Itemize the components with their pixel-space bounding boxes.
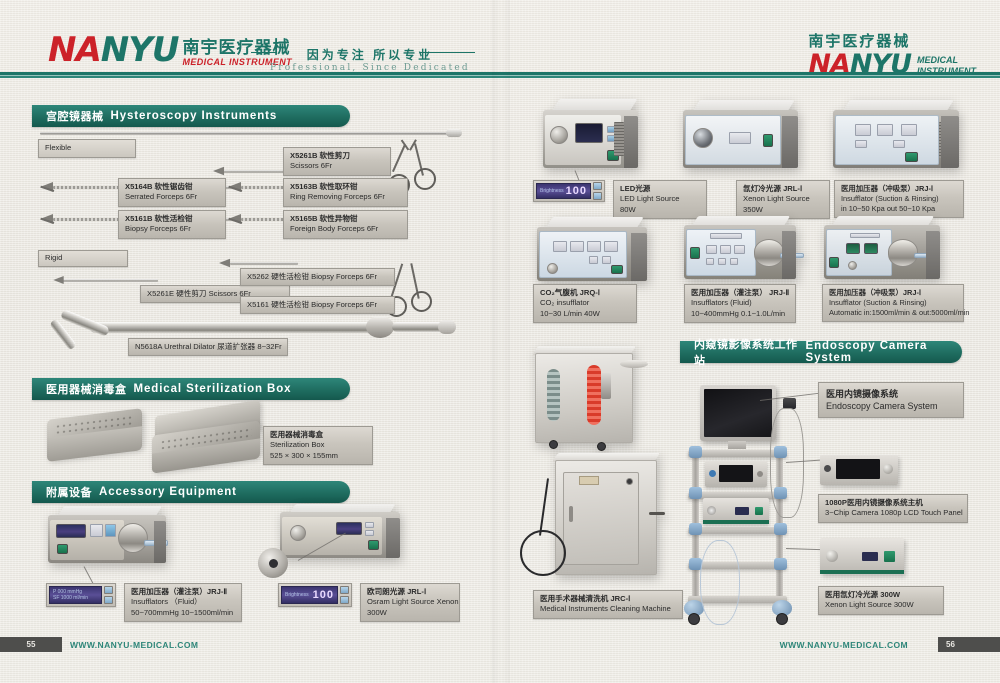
label-serrated-forceps: X5164B 软性锯齿钳 Serrated Forceps 6Fr [118,178,226,207]
label-camera-host: 1080P医用内镜摄像系统主机 3~Chip Camera 1080p LCD … [818,494,968,523]
section-camera-system: 内窥镜影像系统工作站 Endoscopy Camera System [680,341,962,363]
section-sterilization-en: Medical Sterilization Box [134,383,292,395]
display-led: Brightness 100 [533,180,605,202]
device-insufflator-fluid-2 [684,225,796,279]
label-flex-scissors: X5261B 软性剪刀 Scissors 6Fr [283,147,391,176]
cleaning-machine-bottom-art [555,460,657,575]
section-camera-cn: 内窥镜影像系统工作站 [694,336,799,368]
display-insufflator: P 000 mmHg SF 1000 ml/min [46,583,116,607]
header-dash-right [420,52,475,53]
label-xenon-light-source: 氙灯冷光源 JRL-Ⅰ Xenon Light Source 350W [736,180,830,219]
display-osram-label: Brightness [285,592,309,598]
label-urethral-dilator: N5618A Urethral Dilator 尿道扩张器 8~32Fr [128,338,288,356]
display-line-2: SF 1000 ml/min [53,595,88,601]
fiber-optic-cable-end-art [258,548,288,578]
display-led-label: Brightness [540,188,564,194]
device-insufflator-fluid [48,515,166,563]
logo-right-cn: 南宇医疗器械 [808,30,976,51]
label-rigid-biopsy-1: X5262 硬性活检钳 Biopsy Forceps 6Fr [240,268,395,286]
label-osram-light-source: 欧司朗光源 JRL-Ⅰ Osram Light Source Xenon 300… [360,583,460,622]
logo-left: NANYU 南宇医疗器械 MEDICAL INSTRUMENT [48,33,292,67]
section-accessory-cn: 附属设备 [46,484,92,500]
page-number-right: 56 [946,640,955,649]
label-insufflator-suction: 医用加压器（冲吸泵）JRJ-Ⅰ Insufflator (Suction & R… [834,180,964,218]
label-insufflator-fluid-2: 医用加压器（灌注泵） JRJ-Ⅱ Insufflators (Fluid) 10… [684,284,796,323]
label-insufflator-auto: 医用加压器（冲吸泵）JRJ-Ⅰ Insufflator (Suction & R… [822,284,964,322]
section-accessory-en: Accessory Equipment [99,486,237,498]
header-rule [0,72,1000,78]
camera-host-art [820,455,898,485]
device-insufflator-suction-rinsing [833,110,959,168]
display-osram: Brightness 100 [278,583,352,607]
label-sterilization-box: 医用器械消毒盒 Sterilization Box 525 × 300 × 15… [263,426,373,465]
logo-left-wordmark: NANYU [48,33,178,67]
label-co2-insufflator: CO₂气腹机 JRQ-Ⅰ CO₂ insufflator 10~30 L/min… [533,284,637,323]
label-foreign-body-forceps: X5165B 软性异物钳 Foreign Body Forceps 6Fr [283,210,408,239]
flexible-rod-tip [446,129,462,137]
display-led-value: 100 [566,185,587,197]
group-label-rigid: Rigid [38,250,128,267]
xenon-light-art [820,538,904,574]
section-hysteroscopy: 宫腔镜器械 Hysteroscopy Instruments [32,105,350,127]
device-insufflator-auto [824,225,940,279]
display-osram-buttons[interactable] [340,586,349,604]
catalog-page: NANYU 南宇医疗器械 MEDICAL INSTRUMENT 因为专注 所以专… [0,0,1000,683]
label-rigid-biopsy-2: X5161 硬性活检钳 Biopsy Forceps 6Fr [240,296,395,314]
device-led-light-source [543,110,638,168]
page-number-left-tab: 55 [0,637,62,652]
label-camera-system: 医用内镜摄像系统 Endoscopy Camera System [818,382,964,418]
footer-url-right[interactable]: WWW.NANYU-MEDICAL.COM [780,640,908,650]
cleaning-hose-line [539,478,549,536]
section-sterilization: 医用器械消毒盒 Medical Sterilization Box [32,378,350,400]
label-led-light-source: LED光源 LED Light Source 80W [613,180,707,219]
leader-line-xenon [786,548,820,550]
slogan-cn: 因为专注 所以专业 [270,46,470,63]
cleaning-machine-hose-art [520,530,566,576]
label-ring-removing-forceps: X5163B 软性取环钳 Ring Removing Forceps 6Fr [283,178,408,207]
footer-url-left[interactable]: WWW.NANYU-MEDICAL.COM [70,640,198,650]
display-buttons[interactable] [104,586,113,604]
page-number-left: 55 [27,640,36,649]
label-cleaning-machine: 医用手术器械清洗机 JRC-Ⅰ Medical Instruments Clea… [533,590,683,619]
cleaning-machine-tray-art [620,360,648,368]
device-xenon-light-source [683,110,798,168]
section-hysteroscopy-cn: 宫腔镜器械 [46,108,104,124]
display-led-buttons[interactable] [593,182,602,200]
section-camera-en: Endoscopy Camera System [806,340,962,364]
logo-right: 南宇医疗器械 NANYU MEDICAL INSTRUMENT [808,30,976,78]
group-label-flexible: Flexible [38,139,136,158]
flexible-rod-art [40,132,450,135]
label-insufflator-fluid: 医用加压器（灌注泵）JRJ-Ⅱ Insufflators （Fluid） 50~… [124,583,242,622]
section-sterilization-cn: 医用器械消毒盒 [46,381,127,397]
header-slogan: 因为专注 所以专业 Professional, Since Dedicated [270,46,470,73]
page-header: NANYU 南宇医疗器械 MEDICAL INSTRUMENT 因为专注 所以专… [0,0,1000,82]
section-hysteroscopy-en: Hysteroscopy Instruments [111,110,278,122]
section-accessory: 附属设备 Accessory Equipment [32,481,350,503]
label-biopsy-forceps-flex: X5161B 软性活检钳 Biopsy Forceps 6Fr [118,210,226,239]
device-co2-insufflator [537,227,647,281]
display-osram-value: 100 [313,589,334,601]
page-number-right-tab: 56 [938,637,1000,652]
label-xenon-300w: 医用氙灯冷光源 300W Xenon Light Source 300W [818,586,944,615]
cleaning-machine-top-art [535,353,633,443]
